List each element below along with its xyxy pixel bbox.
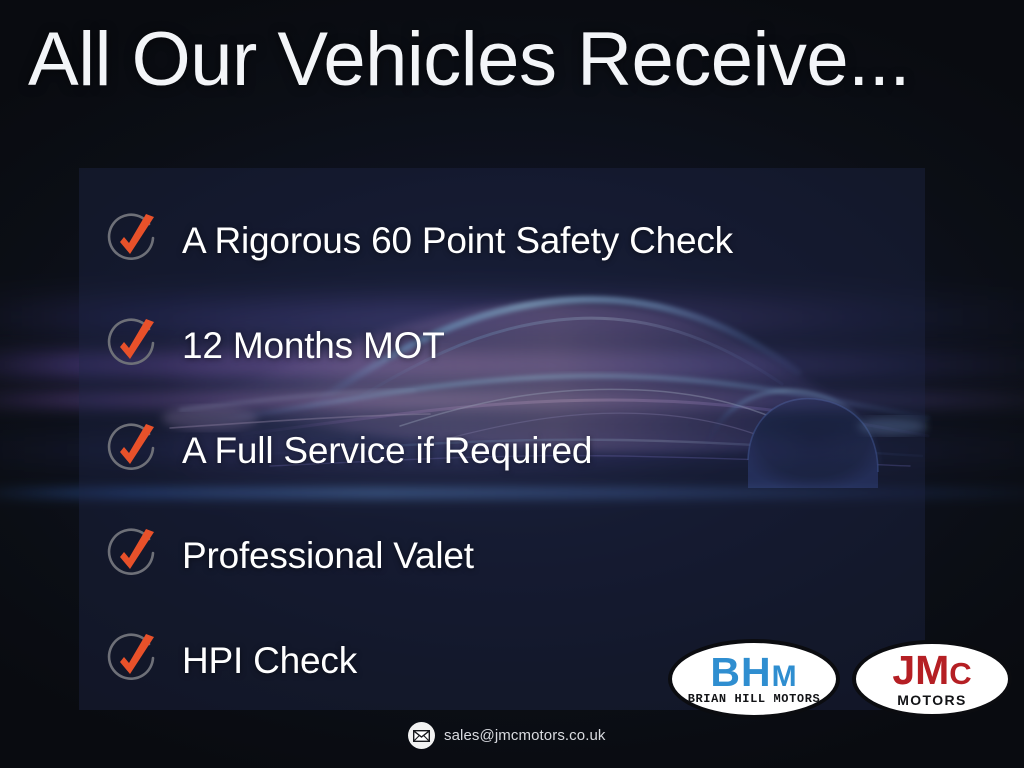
list-item-label: HPI Check [182, 642, 357, 679]
email-address[interactable]: sales@jmcmotors.co.uk [444, 727, 606, 744]
page-title: All Our Vehicles Receive... [28, 22, 1008, 98]
jmc-logo-initials: JMC [892, 652, 971, 690]
orange-check-circle-icon [102, 420, 164, 482]
list-item: A Full Service if Required [100, 398, 920, 503]
list-item-label: A Rigorous 60 Point Safety Check [182, 222, 733, 259]
jmc-logo-subtitle: MOTORS [897, 692, 967, 708]
orange-check-circle-icon [102, 210, 164, 272]
list-item-label: A Full Service if Required [182, 432, 592, 469]
orange-check-circle-icon [102, 315, 164, 377]
orange-check-circle-icon [102, 525, 164, 587]
bhm-logo-initials: BHM [710, 654, 797, 692]
slide-canvas: All Our Vehicles Receive... A Rigorous 6… [0, 0, 1024, 768]
list-item: A Rigorous 60 Point Safety Check [100, 188, 920, 293]
list-item: Professional Valet [100, 503, 920, 608]
benefits-checklist: A Rigorous 60 Point Safety Check 12 Mont… [100, 188, 920, 713]
jmc-logo: JMC MOTORS [852, 640, 1012, 718]
bhm-logo: BHM BRIAN HILL MOTORS [668, 639, 840, 719]
list-item-label: Professional Valet [182, 537, 474, 574]
list-item: 12 Months MOT [100, 293, 920, 398]
bhm-logo-initials-large: BH [710, 654, 771, 692]
envelope-icon [408, 722, 435, 749]
jmc-logo-initials-small: C [949, 660, 971, 689]
bhm-logo-subtitle: BRIAN HILL MOTORS [688, 692, 821, 706]
list-item-label: 12 Months MOT [182, 327, 445, 364]
contact-footer[interactable]: sales@jmcmotors.co.uk [408, 722, 606, 749]
bhm-logo-initials-small: M [772, 663, 798, 691]
dealer-logos: BHM BRIAN HILL MOTORS JMC MOTORS [668, 637, 1016, 721]
orange-check-circle-icon [102, 630, 164, 692]
jmc-logo-initials-large: JM [892, 652, 949, 690]
